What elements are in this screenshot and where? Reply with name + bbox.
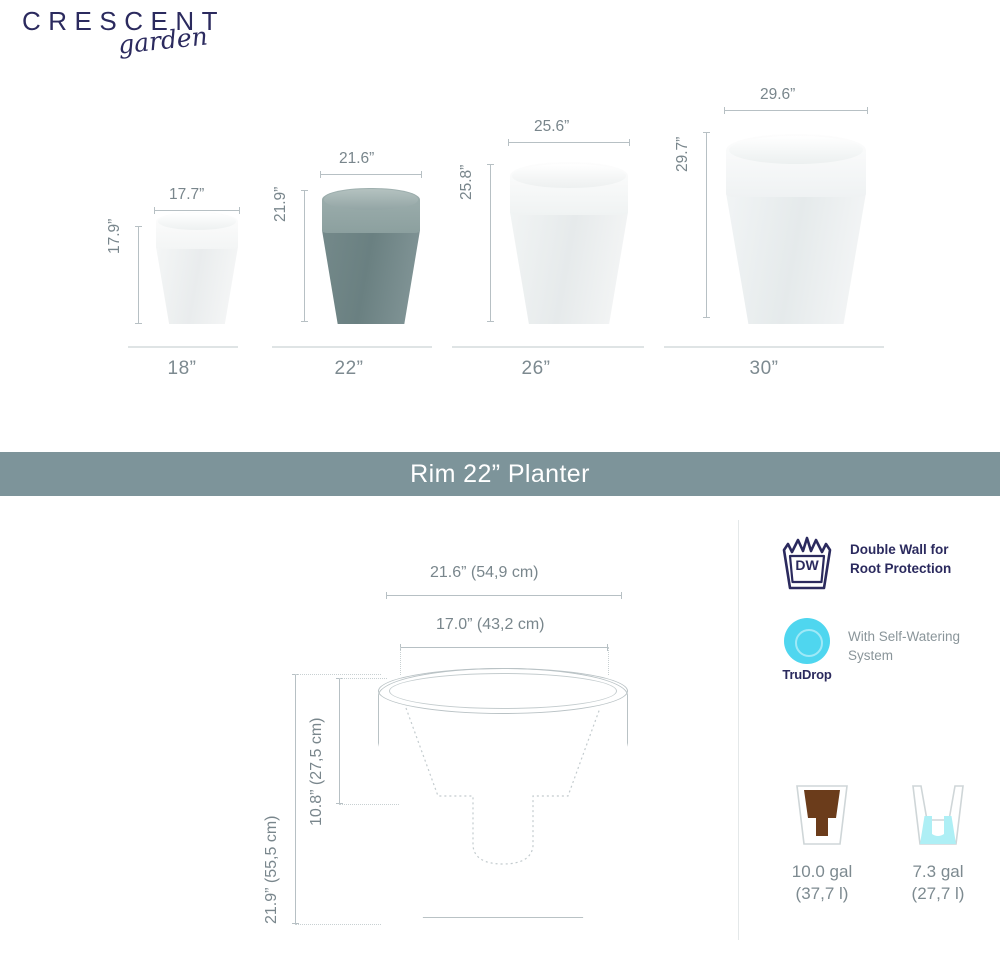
dim-line-22-width (320, 174, 422, 175)
dim-22-width: 21.6” (339, 150, 374, 168)
capacity-water-value: 7.3 gal (894, 861, 982, 883)
size-option-18[interactable]: 17.7” 17.9” 18” (118, 96, 246, 396)
trudrop-circle (784, 618, 830, 664)
capacity-group: 10.0 gal (37,7 l) 7.3 gal (27,7 l) (778, 780, 993, 905)
capacity-water: 7.3 gal (27,7 l) (894, 780, 982, 905)
size-lineup: 17.7” 17.9” 18” 21.6” 21.9” 22” (0, 96, 1000, 396)
size-label-26: 26” (450, 358, 622, 380)
page-title: Rim 22” Planter (410, 460, 590, 489)
spec-outer-width-line (386, 595, 622, 596)
dim-line-18-height (138, 226, 139, 324)
spec-depth-label: 10.8” (27,5 cm) (308, 718, 326, 826)
spec-depth-line (339, 678, 340, 804)
planter-22-image (322, 188, 420, 324)
section-title-bar: Rim 22” Planter (0, 452, 1000, 496)
size-option-26[interactable]: 25.6” 25.8” 26” (472, 96, 644, 396)
trudrop-icon: TruDrop (776, 618, 838, 688)
capacity-soil: 10.0 gal (37,7 l) (778, 780, 866, 905)
spec-height-leader-bottom (295, 924, 381, 925)
size-rule-22 (272, 346, 432, 348)
water-reservoir-icon (899, 780, 977, 852)
soil-volume-icon (783, 780, 861, 852)
dim-18-width: 17.7” (169, 186, 204, 204)
capacity-soil-value: 10.0 gal (778, 861, 866, 883)
feature-double-wall-line2: Root Protection (850, 559, 951, 578)
spec-inner-width-label: 17.0” (43,2 cm) (436, 616, 544, 634)
size-rule-26 (452, 346, 644, 348)
feature-self-watering-line1: With Self-Watering (848, 627, 960, 646)
planter-18-image (156, 212, 238, 324)
planter-30-image (726, 134, 866, 324)
dim-30-width: 29.6” (760, 86, 795, 104)
spec-diagram: 21.6” (54,9 cm) 17.0” (43,2 cm) 21.9” (5… (0, 496, 738, 955)
dim-line-26-width (508, 142, 630, 143)
spec-height-label: 21.9” (55,5 cm) (263, 816, 281, 924)
dim-26-height: 25.8” (458, 165, 476, 200)
planter-line-drawing (378, 668, 628, 918)
feature-double-wall-line1: Double Wall for (850, 540, 951, 559)
planter-reservoir-dotted (378, 668, 628, 918)
brand-logo: CRESCENT garden (22, 4, 252, 66)
spec-outer-width-label: 21.6” (54,9 cm) (430, 564, 538, 582)
capacity-soil-metric: (37,7 l) (778, 883, 866, 905)
size-label-30: 30” (666, 358, 862, 380)
dim-line-30-height (706, 132, 707, 318)
feature-panel: DW Double Wall for Root Protection TruDr… (738, 496, 1000, 955)
spec-height-line (295, 674, 296, 924)
size-label-18: 18” (118, 358, 246, 380)
feature-double-wall: DW Double Wall for Root Protection (778, 536, 990, 592)
size-rule-30 (664, 346, 884, 348)
dim-18-height: 17.9” (106, 219, 124, 254)
spec-inner-width-line (400, 647, 608, 648)
size-option-22[interactable]: 21.6” 21.9” 22” (286, 96, 432, 396)
capacity-water-metric: (27,7 l) (894, 883, 982, 905)
size-option-30[interactable]: 29.6” 29.7” 30” (688, 96, 884, 396)
feature-self-watering: TruDrop With Self-Watering System (776, 618, 992, 688)
dim-30-height: 29.7” (674, 137, 692, 172)
double-wall-icon: DW (778, 536, 836, 592)
dim-26-width: 25.6” (534, 118, 569, 136)
feature-self-watering-line2: System (848, 646, 960, 665)
size-label-22: 22” (276, 358, 422, 380)
svg-text:DW: DW (795, 557, 819, 573)
dim-line-26-height (490, 164, 491, 322)
size-rule-18 (128, 346, 238, 348)
brand-script: garden (117, 23, 209, 57)
planter-26-image (510, 162, 628, 324)
dim-22-height: 21.9” (272, 187, 290, 222)
spec-height-leader-top (295, 674, 381, 675)
dim-line-30-width (724, 110, 868, 111)
dim-line-18-width (154, 210, 240, 211)
trudrop-label: TruDrop (776, 667, 838, 682)
dim-line-22-height (304, 190, 305, 322)
